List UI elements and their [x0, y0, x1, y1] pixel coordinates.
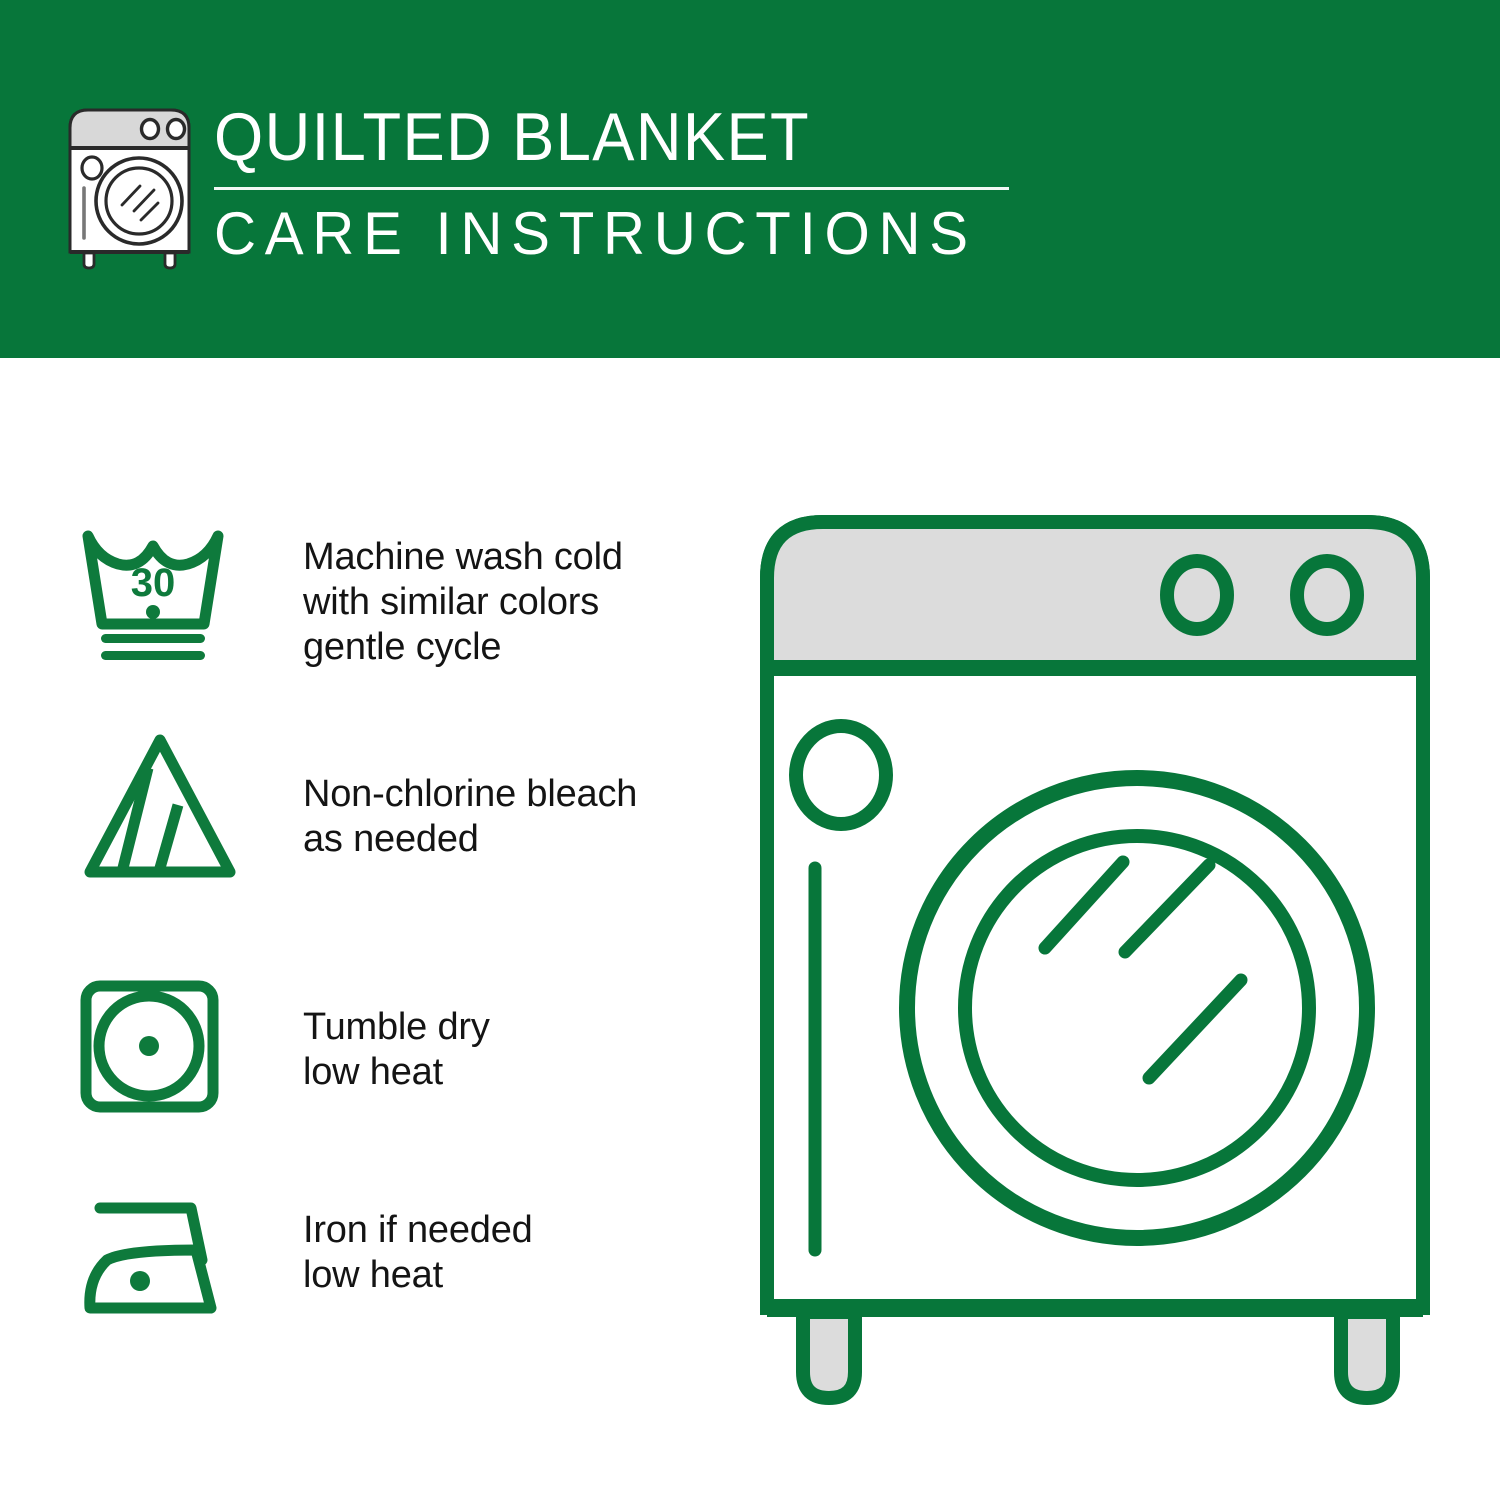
care-symbol-list: 30 Machine wash cold with similar colors…	[0, 358, 720, 1500]
foot-left	[803, 1312, 855, 1398]
page-subtitle: CARE INSTRUCTIONS	[214, 198, 1009, 270]
tumble-dry-low-icon	[78, 980, 221, 1113]
knob-right	[1297, 561, 1357, 629]
care-instructions-page: QUILTED BLANKET CARE INSTRUCTIONS 30	[0, 0, 1500, 1500]
detergent-knob	[796, 726, 886, 824]
care-text-wash: Machine wash cold with similar colors ge…	[303, 535, 623, 670]
header-text-block: QUILTED BLANKET CARE INSTRUCTIONS	[214, 96, 1034, 270]
foot-right	[1341, 1312, 1393, 1398]
door-inner-ring	[965, 836, 1309, 1180]
non-chlorine-bleach-triangle-icon	[78, 730, 243, 882]
washing-machine-illustration	[745, 500, 1445, 1420]
page-title: QUILTED BLANKET	[214, 96, 977, 178]
wash-tub-30-gentle-icon: 30	[78, 524, 246, 662]
washing-machine-logo-icon	[62, 104, 197, 269]
title-divider	[214, 187, 1009, 190]
care-text-bleach: Non-chlorine bleach as needed	[303, 772, 637, 862]
iron-low-heat-icon	[78, 1198, 248, 1320]
care-text-iron: Iron if needed low heat	[303, 1208, 533, 1298]
header-banner: QUILTED BLANKET CARE INSTRUCTIONS	[0, 0, 1500, 358]
knob-left	[1167, 561, 1227, 629]
svg-text:30: 30	[131, 561, 176, 605]
care-text-tumble-dry: Tumble dry low heat	[303, 1005, 490, 1095]
